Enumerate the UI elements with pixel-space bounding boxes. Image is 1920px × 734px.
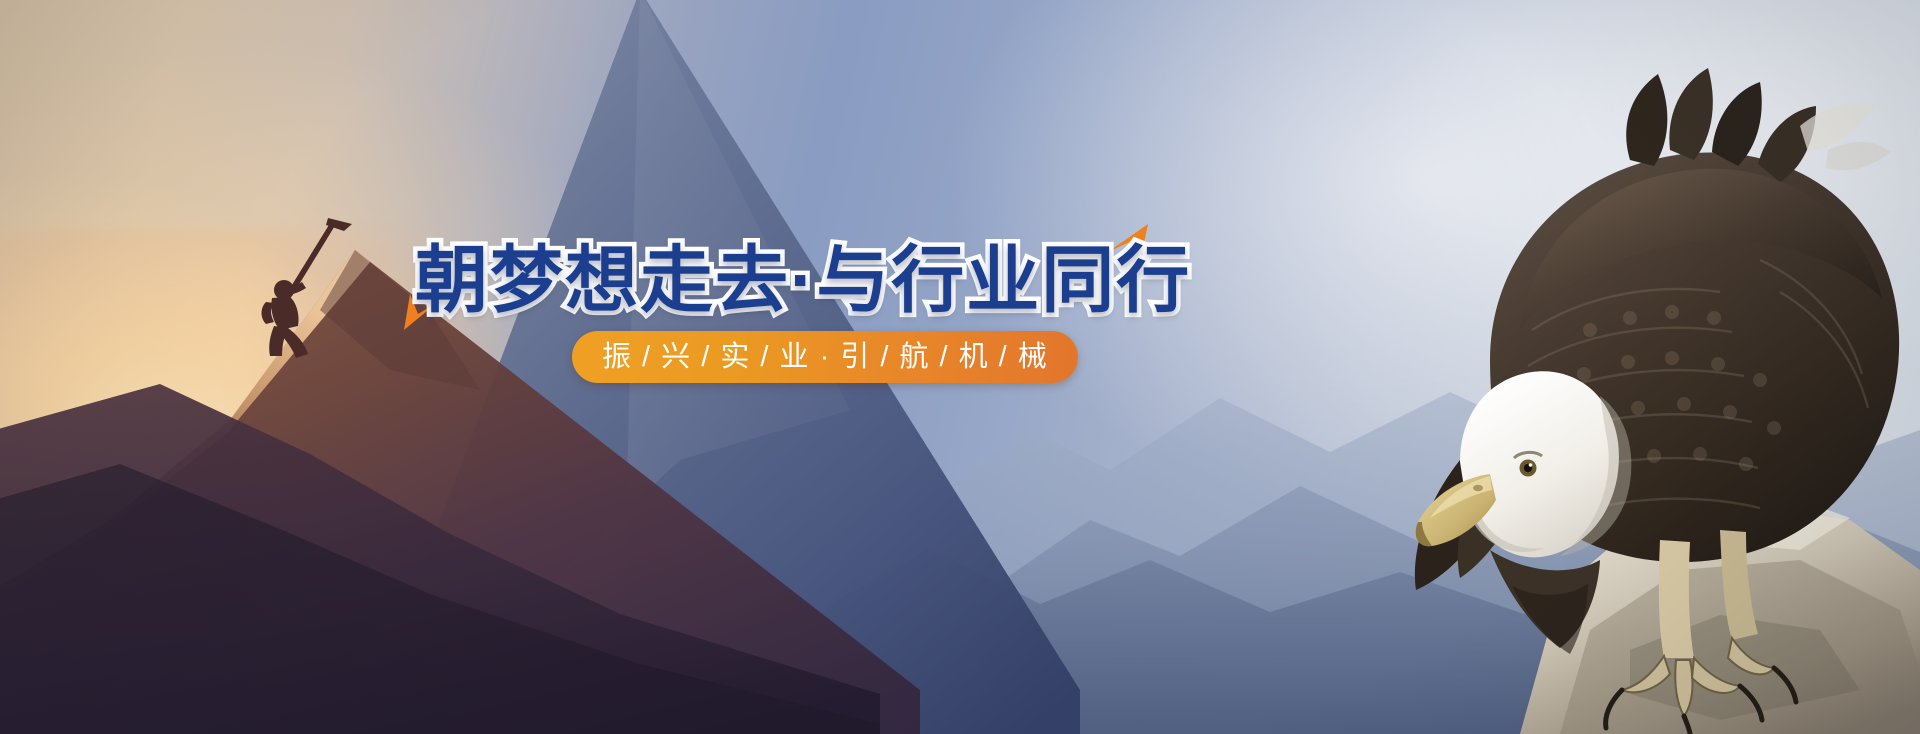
hero-banner: 朝梦想走去·与行业同行 振 / 兴 / 实 / 业 · 引 / 航 / 机 / … <box>0 0 1920 734</box>
subtitle-pill-text: 振 / 兴 / 实 / 业 · 引 / 航 / 机 / 械 <box>602 343 1048 372</box>
banner-headline: 朝梦想走去·与行业同行 <box>415 237 1155 323</box>
bald-eagle-illustration <box>1160 30 1920 734</box>
headline-text: 朝梦想走去·与行业同行 <box>415 244 1191 317</box>
subtitle-pill: 振 / 兴 / 实 / 业 · 引 / 航 / 机 / 械 <box>572 331 1078 383</box>
